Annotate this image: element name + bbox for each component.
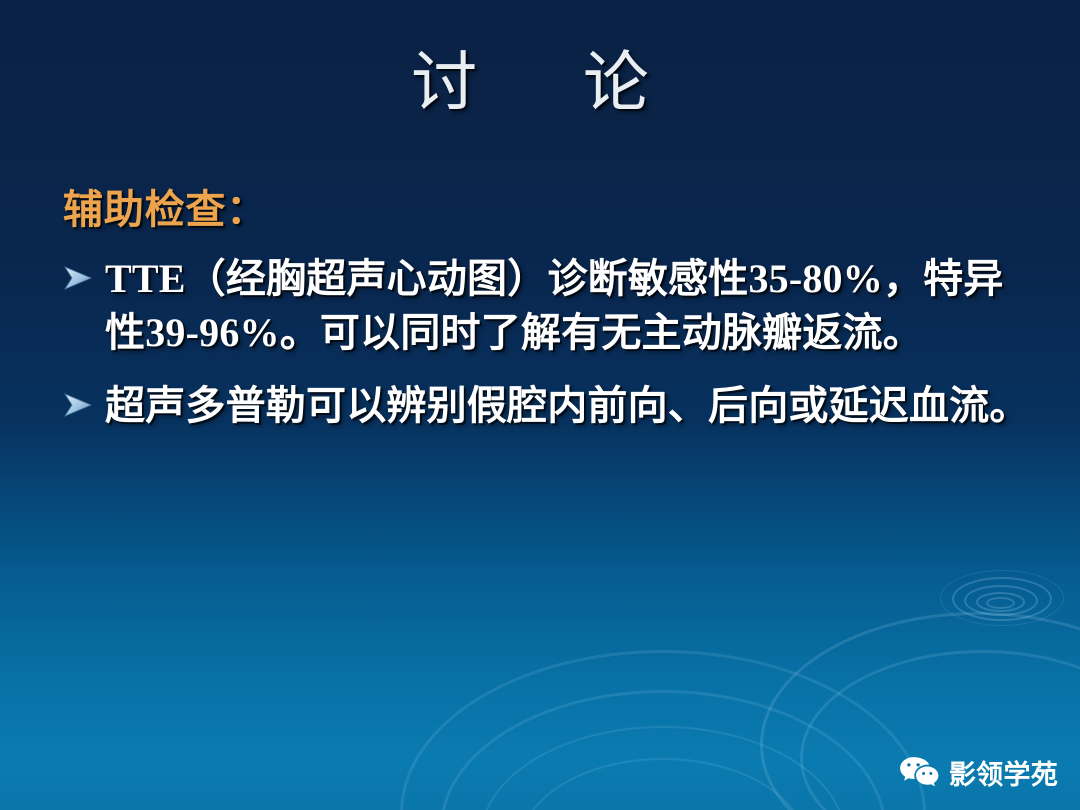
watermark: 影领学苑 xyxy=(898,753,1058,792)
list-item: 超声多普勒可以辨别假腔内前向、后向或延迟血流。 xyxy=(58,379,1038,433)
ripple-ring-icon xyxy=(964,585,1038,616)
list-item-label: 超声多普勒可以辨别假腔内前向、后向或延迟血流。 xyxy=(105,379,1038,433)
ripple-arc-icon xyxy=(440,690,886,810)
list-item-label: TTE（经胸超声心动图）诊断敏感性35-80%，特异性39-96%。可以同时了解… xyxy=(105,252,1038,359)
ripple-ring-icon xyxy=(940,570,1064,626)
ripple-arc-icon xyxy=(480,726,846,810)
watermark-label: 影领学苑 xyxy=(949,753,1058,792)
ripple-arc-icon xyxy=(400,650,926,810)
ripple-ring-icon xyxy=(952,577,1052,621)
bullet-list: TTE（经胸超声心动图）诊断敏感性35-80%，特异性39-96%。可以同时了解… xyxy=(58,252,1038,433)
slide-body: 辅助检查： TTE（经胸超声心动图）诊断敏感性35-80%，特异性39-96%。… xyxy=(58,190,1038,433)
slide-title: 讨 论 xyxy=(0,48,1080,121)
list-item: TTE（经胸超声心动图）诊断敏感性35-80%，特异性39-96%。可以同时了解… xyxy=(58,252,1038,359)
wechat-icon xyxy=(898,755,940,791)
presentation-slide: 讨 论 辅助检查： TTE（经胸超声心动图）诊断敏感性35-80%，特异性39-… xyxy=(0,0,1080,810)
ripple-arc-icon xyxy=(520,758,806,810)
arrow-bullet-icon xyxy=(63,391,93,419)
section-heading: 辅助检查： xyxy=(63,190,1038,230)
ripple-ring-icon xyxy=(976,592,1025,612)
arrow-bullet-icon xyxy=(63,264,93,292)
ripple-ring-icon xyxy=(986,597,1015,609)
